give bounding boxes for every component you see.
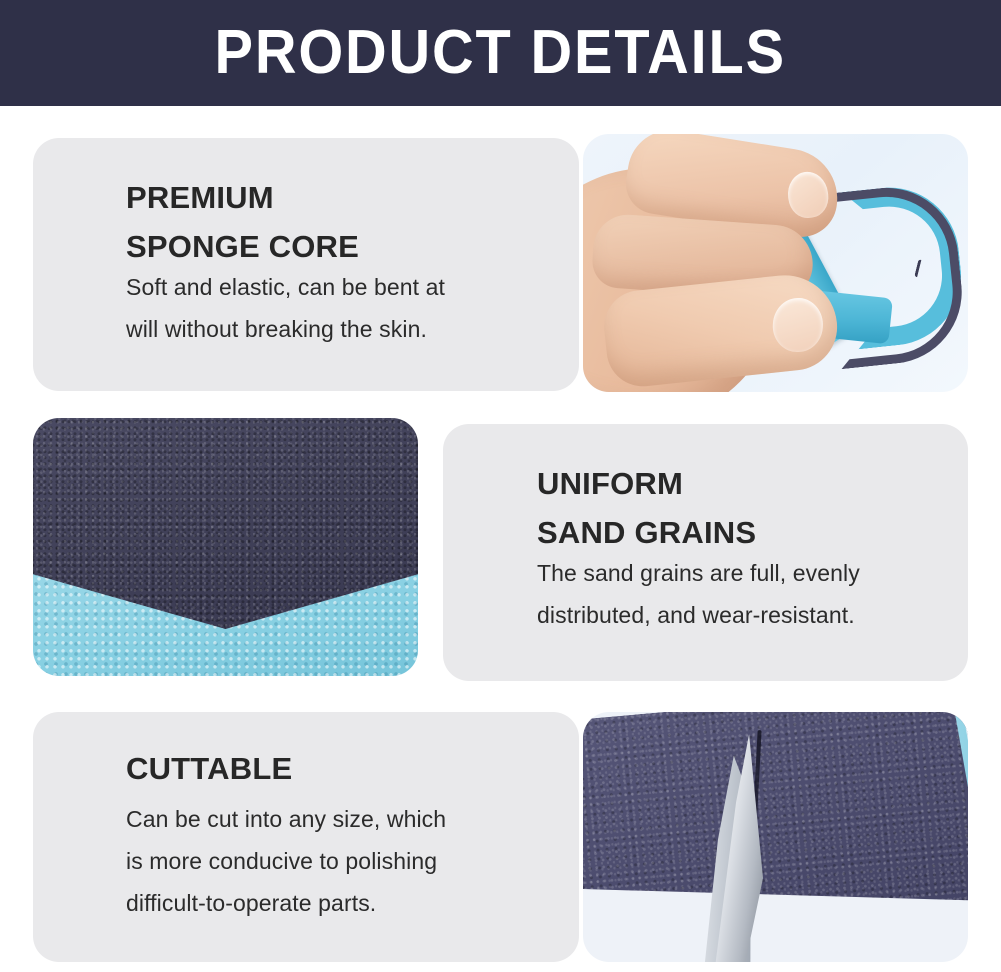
- feature-card-sponge-core: PREMIUM SPONGE CORE Soft and elastic, ca…: [33, 138, 579, 391]
- sheet-blue-edge: [948, 712, 968, 891]
- feature-photo-scissors-cut: [583, 712, 968, 962]
- feature-body-sand-grains: The sand grains are full, evenly distrib…: [537, 552, 860, 636]
- feature-title-sponge-core: PREMIUM SPONGE CORE: [126, 173, 359, 271]
- feature-title-sand-grains: UNIFORM SAND GRAINS: [537, 459, 756, 557]
- feature-card-sand-grains: UNIFORM SAND GRAINS The sand grains are …: [443, 424, 968, 681]
- scissors-cutting-illustration: [583, 712, 968, 962]
- feature-photo-grain-macro: [33, 418, 418, 676]
- header-bar: PRODUCT DETAILS: [0, 0, 1001, 106]
- page-title: PRODUCT DETAILS: [215, 22, 786, 84]
- index-fingernail: [785, 170, 830, 221]
- feature-body-cuttable: Can be cut into any size, which is more …: [126, 798, 446, 924]
- product-details-infographic: PRODUCT DETAILS PREMIUM SPONGE CORE Soft…: [0, 0, 1001, 972]
- feature-card-cuttable: CUTTABLE Can be cut into any size, which…: [33, 712, 579, 962]
- thumbnail: [771, 296, 825, 353]
- hand-bending-sponge-illustration: [583, 134, 968, 392]
- feature-body-sponge-core: Soft and elastic, can be bent at will wi…: [126, 266, 445, 350]
- feature-title-cuttable: CUTTABLE: [126, 744, 292, 793]
- feature-photo-bending-hand: [583, 134, 968, 392]
- sand-grain-macro-illustration: [33, 418, 418, 676]
- sanding-sheet-surface: [583, 712, 968, 936]
